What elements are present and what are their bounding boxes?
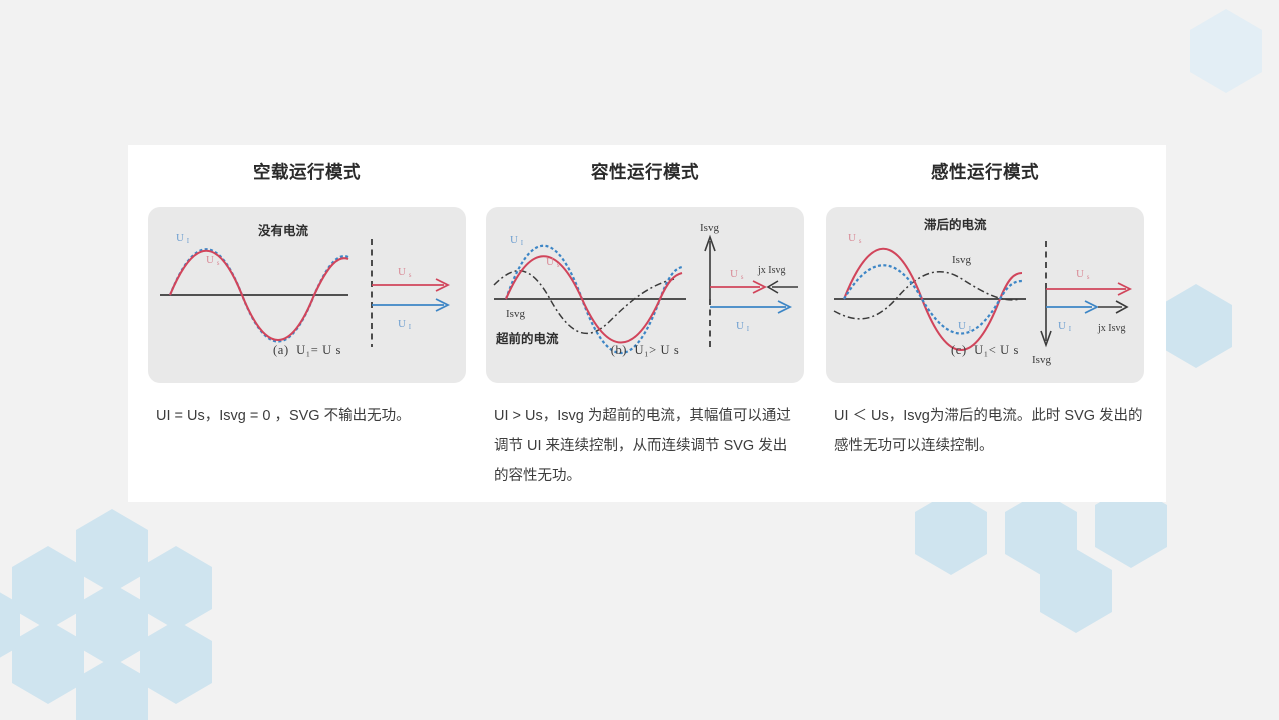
label-ui-wave: U I: [176, 232, 190, 245]
panel-capacitive: 容性运行模式 U I U s Isvg 超前的电流: [480, 145, 810, 502]
diagram-capacitive: U I U s Isvg 超前的电流 Isvg jx Isvg: [486, 207, 804, 383]
panel-title-inductive: 感性运行模式: [820, 159, 1150, 184]
wave-note-no-load: 没有电流: [258, 223, 309, 238]
phasor-label-jx-isvg: jx Isvg: [1097, 323, 1126, 334]
body-text-inductive: UI ＜ Us，Isvg为滞后的电流。此时 SVG 发出的感性无功可以连续控制。: [834, 401, 1146, 461]
phasor-label-ui: U I: [1058, 320, 1072, 333]
phasor-label-ui: U I: [398, 318, 412, 331]
sub-caption-a: (a) U₁= U s: [148, 343, 466, 358]
panel-title-capacitive: 容性运行模式: [480, 159, 810, 184]
label-us-wave: U s: [546, 256, 560, 269]
body-text-capacitive: UI > Us，Isvg 为超前的电流，其幅值可以通过调节 UI 来连续控制，从…: [494, 401, 800, 491]
panel-title-no-load: 空载运行模式: [142, 159, 472, 184]
phasor-label-us: U s: [398, 266, 412, 279]
label-us-wave: U s: [848, 232, 862, 245]
sub-caption-b: (b) U₁> U s: [486, 343, 804, 358]
body-text-no-load: UI = Us，Isvg = 0 ，SVG 不输出无功。: [156, 401, 462, 431]
label-isvg-wave: Isvg: [952, 254, 971, 266]
panel-inductive: 感性运行模式 U s Isvg U I 滞后的电流: [820, 145, 1150, 502]
slide-card: 空载运行模式 U I U s 没有电流: [128, 145, 1166, 502]
phasor-label-us: U s: [730, 268, 744, 281]
label-ui-wave: U I: [510, 234, 524, 247]
label-ui-wave: U I: [958, 320, 972, 333]
phasor-label-ui: U I: [736, 320, 750, 333]
diagram-no-load: U I U s 没有电流 U s U I (a): [148, 207, 466, 383]
wave-note-inductive: 滞后的电流: [924, 217, 987, 232]
sub-caption-c: (c) U₁< U s: [826, 343, 1144, 358]
panel-no-load: 空载运行模式 U I U s 没有电流: [142, 145, 472, 502]
phasor-label-isvg: Isvg: [700, 222, 719, 234]
phasor-label-jx-isvg: jx Isvg: [757, 265, 786, 276]
diagram-inductive: U s Isvg U I 滞后的电流 Isvg: [826, 207, 1144, 383]
label-isvg-wave: Isvg: [506, 308, 525, 320]
phasor-label-us: U s: [1076, 268, 1090, 281]
